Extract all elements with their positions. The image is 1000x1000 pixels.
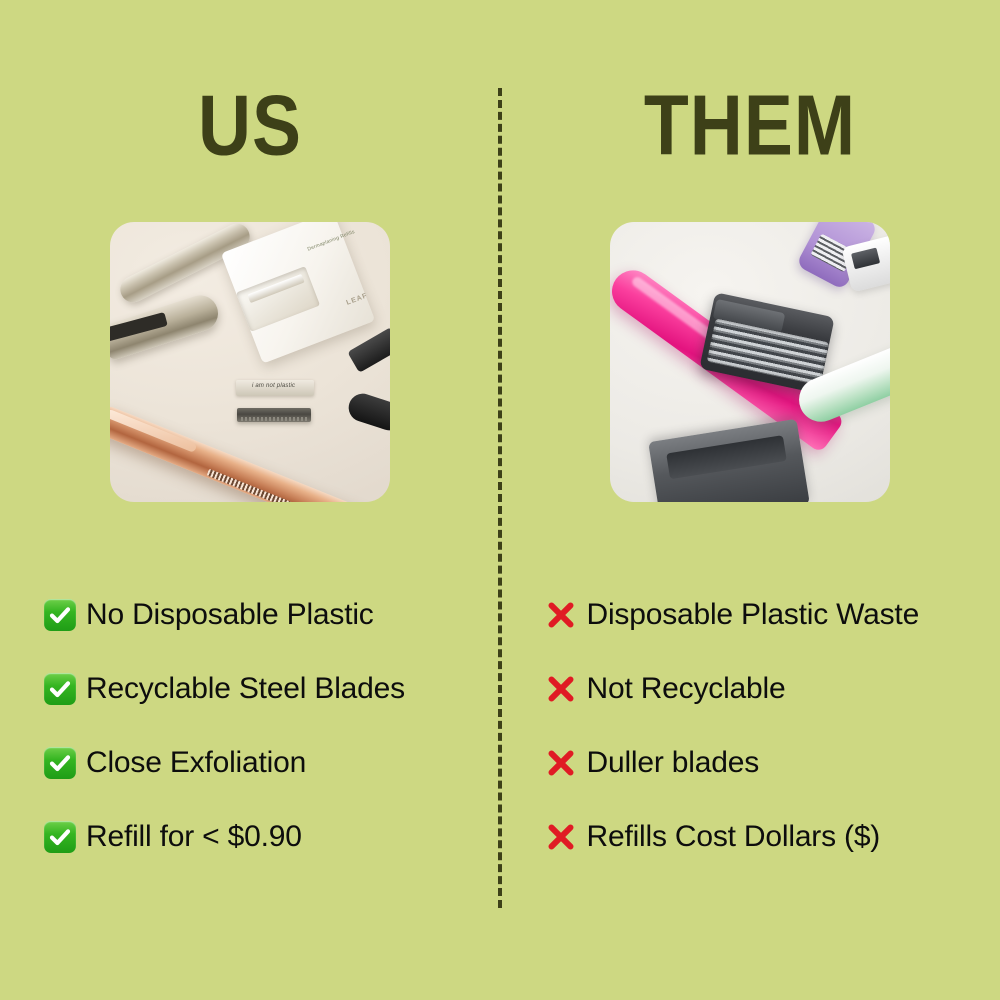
list-item-label: Duller blades bbox=[587, 748, 760, 778]
grey-plastic-razor-body-icon bbox=[648, 419, 810, 502]
comparison-infographic: US THEM Dermaplaning Refills LEAF i am n… bbox=[0, 0, 1000, 1000]
cross-icon bbox=[545, 673, 577, 705]
list-item: Recyclable Steel Blades bbox=[44, 652, 500, 726]
check-icon bbox=[44, 673, 76, 705]
list-item: Refills Cost Dollars ($) bbox=[545, 800, 1000, 874]
check-icon bbox=[44, 821, 76, 853]
heading-cell-us: US bbox=[0, 84, 500, 168]
black-cap-icon bbox=[345, 390, 390, 434]
column-heading-us: US bbox=[198, 84, 302, 169]
list-item: Duller blades bbox=[545, 726, 1000, 800]
blade-wrapper-text: i am not plastic bbox=[252, 383, 295, 389]
check-icon bbox=[44, 747, 76, 779]
feature-list-them: Disposable Plastic Waste Not Recyclable … bbox=[500, 578, 1000, 878]
check-icon bbox=[44, 599, 76, 631]
cross-icon bbox=[545, 747, 577, 779]
photo-cell-them bbox=[500, 222, 1000, 502]
comparison-lists: No Disposable Plastic Recyclable Steel B… bbox=[0, 578, 1000, 878]
list-item-label: Refills Cost Dollars ($) bbox=[587, 822, 881, 852]
feature-list-us: No Disposable Plastic Recyclable Steel B… bbox=[0, 578, 500, 878]
heading-cell-them: THEM bbox=[500, 84, 1000, 168]
cross-icon bbox=[545, 599, 577, 631]
product-photo-us: Dermaplaning Refills LEAF i am not plast… bbox=[110, 222, 390, 502]
steel-blade-icon bbox=[237, 408, 311, 422]
list-item-label: No Disposable Plastic bbox=[86, 600, 374, 630]
list-item: Not Recyclable bbox=[545, 652, 1000, 726]
list-item: Refill for < $0.90 bbox=[44, 800, 500, 874]
product-photo-them bbox=[610, 222, 890, 502]
list-item: Close Exfoliation bbox=[44, 726, 500, 800]
cross-icon bbox=[545, 821, 577, 853]
list-item-label: Recyclable Steel Blades bbox=[86, 674, 405, 704]
list-item: No Disposable Plastic bbox=[44, 578, 500, 652]
photo-cell-us: Dermaplaning Refills LEAF i am not plast… bbox=[0, 222, 500, 502]
blade-wrapper-icon: i am not plastic bbox=[236, 380, 314, 396]
list-item-label: Close Exfoliation bbox=[86, 748, 306, 778]
list-item-label: Refill for < $0.90 bbox=[86, 822, 302, 852]
column-heading-them: THEM bbox=[644, 84, 856, 169]
list-item-label: Not Recyclable bbox=[587, 674, 786, 704]
list-item-label: Disposable Plastic Waste bbox=[587, 600, 920, 630]
black-accessory-icon bbox=[347, 327, 390, 373]
list-item: Disposable Plastic Waste bbox=[545, 578, 1000, 652]
